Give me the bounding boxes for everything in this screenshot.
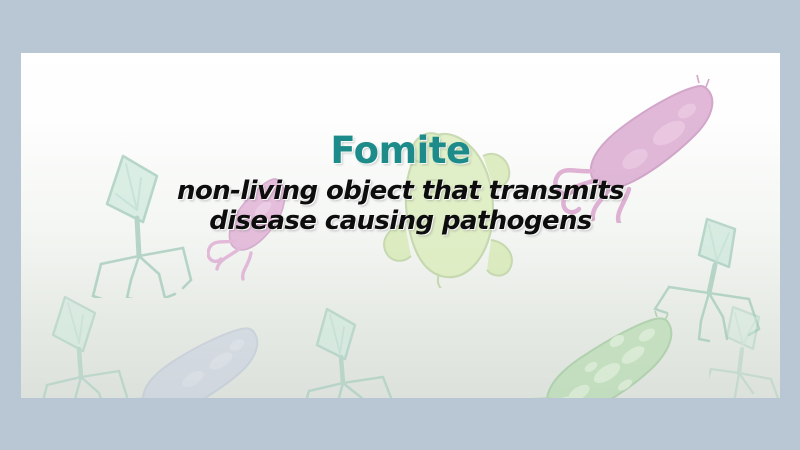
slide-subtitle: non-living object that transmits disease… — [21, 176, 780, 236]
bacterium-blue-bottom — [113, 321, 273, 398]
bacterium-green-bottom — [513, 311, 693, 398]
bacteriophage-far-right — [709, 303, 780, 398]
subtitle-line-2: disease causing pathogens — [21, 206, 780, 236]
slide-canvas: Fomite non-living object that transmits … — [21, 53, 780, 398]
bacteriophage-bottom-left — [35, 291, 155, 398]
slide-frame: Fomite non-living object that transmits … — [0, 0, 800, 450]
bacteriophage-bottom-center — [297, 303, 417, 398]
slide-title: Fomite — [21, 131, 780, 171]
slide-text-block: Fomite non-living object that transmits … — [21, 131, 780, 236]
subtitle-line-1: non-living object that transmits — [21, 176, 780, 206]
